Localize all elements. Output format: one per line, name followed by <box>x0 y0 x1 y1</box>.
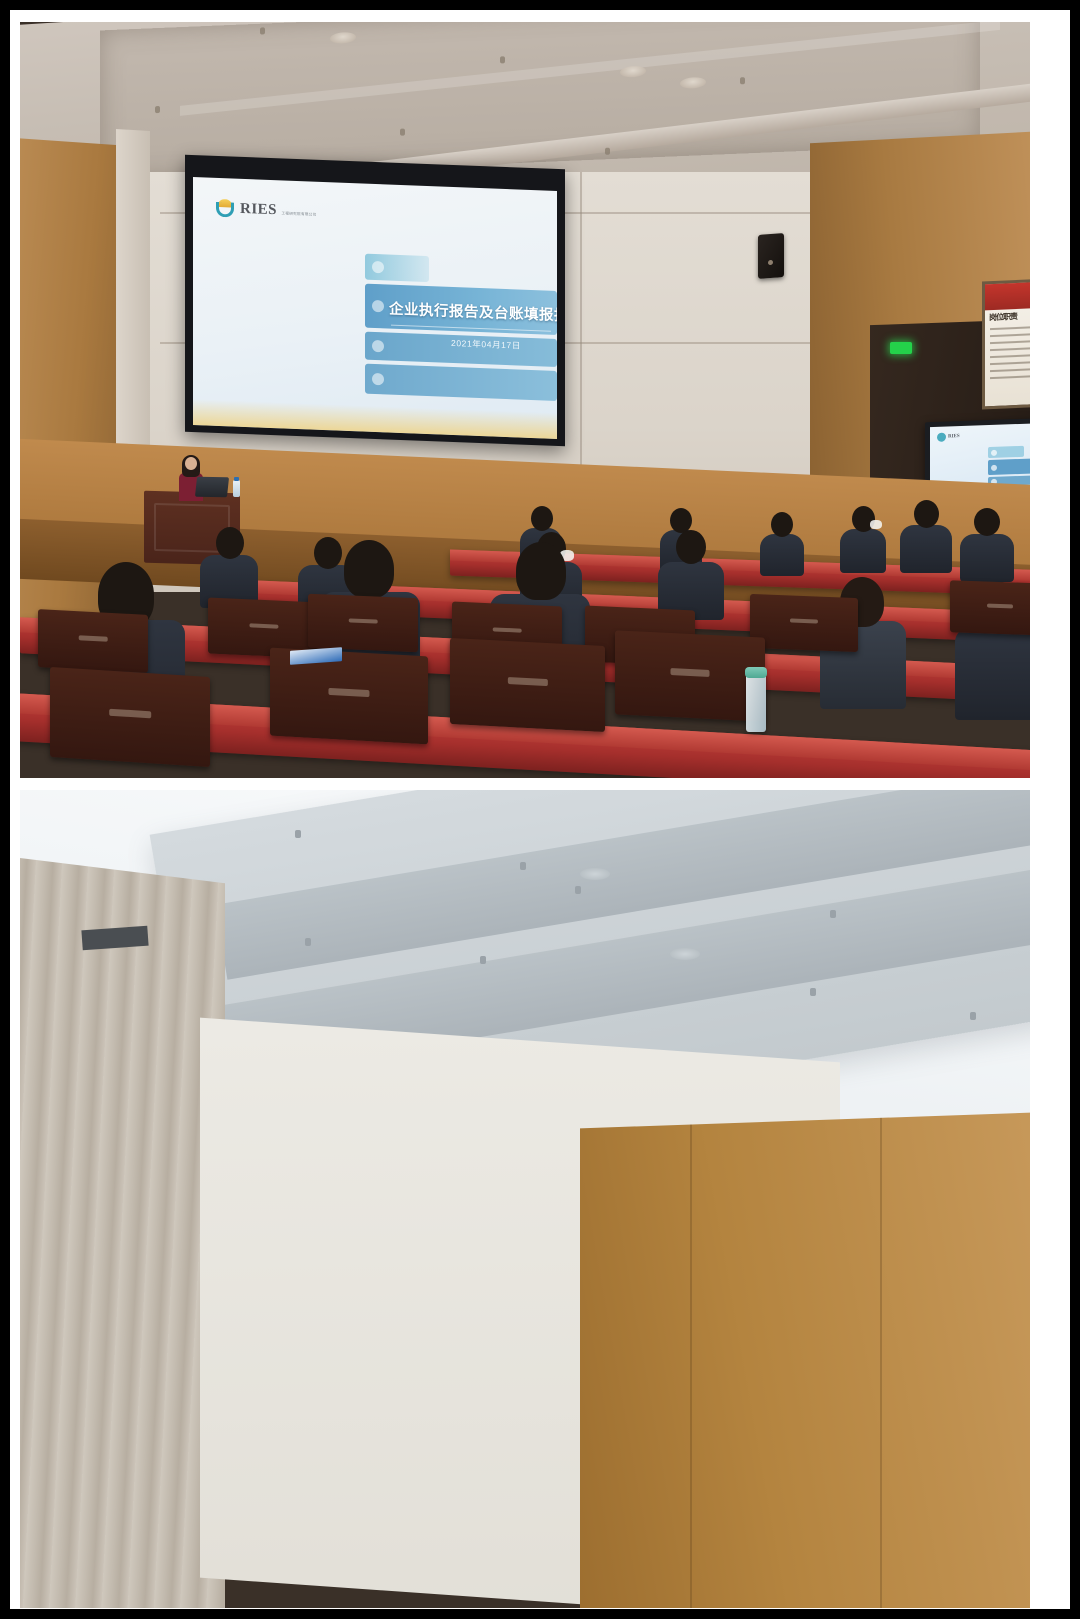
mini-band <box>988 458 1030 475</box>
smoke-detector <box>480 956 486 964</box>
ries-wordmark: RIES <box>948 434 960 439</box>
chair <box>50 667 210 767</box>
chair <box>750 594 858 652</box>
sprinkler-head <box>500 56 505 63</box>
ceiling-downlight <box>670 948 700 960</box>
chair <box>450 638 605 732</box>
face-mask <box>870 520 882 529</box>
projection-screen-surface: RIES 工程研究院有限公司 企业执行报告及台账填报指导 2021年04月17日 <box>193 177 557 439</box>
smoke-detector <box>400 128 405 135</box>
attendee <box>658 530 724 618</box>
slide-logo: RIES 工程研究院有限公司 <box>215 198 317 222</box>
ries-wordmark: RIES <box>240 201 277 218</box>
ries-logo-text: RIES 工程研究院有限公司 <box>240 201 317 220</box>
photo-top-conference-room: 岗位职责 RIES 工程研究院有限公司 <box>20 22 1030 778</box>
thermos <box>746 674 766 732</box>
smoke-detector <box>810 988 816 996</box>
chair <box>615 630 765 721</box>
attendee <box>200 527 258 607</box>
wall-seam <box>580 172 582 472</box>
framed-poster: 岗位职责 <box>982 278 1030 409</box>
wall-speaker-icon <box>758 233 784 279</box>
mini-band <box>988 446 1024 458</box>
slide-band <box>365 364 557 401</box>
wood-wall <box>580 1112 1030 1608</box>
exit-sign-icon <box>890 342 912 354</box>
projection-screen-frame: RIES 工程研究院有限公司 企业执行报告及台账填报指导 2021年04月17日 <box>185 155 565 447</box>
wood-seam <box>880 1118 882 1608</box>
laptop <box>195 477 229 498</box>
photo-bottom-conference-room: 大力发扬三牛精神 全力答好 RIES 工程研究院有限公司 一案三制 <box>20 790 1030 1608</box>
window-curtain <box>20 857 225 1608</box>
sprinkler-head <box>830 910 836 918</box>
attendee <box>900 500 952 572</box>
smoke-detector <box>575 886 581 894</box>
sprinkler-head <box>740 77 745 84</box>
ries-logo-icon <box>215 198 235 219</box>
slide-band <box>365 254 429 282</box>
attendee <box>760 512 804 574</box>
smoke-detector <box>155 106 160 113</box>
ceiling-downlight <box>580 868 610 880</box>
attendee <box>840 506 886 572</box>
poster-header <box>985 282 1030 311</box>
wood-seam <box>690 1124 692 1608</box>
page-background: 岗位职责 RIES 工程研究院有限公司 <box>0 0 1080 1619</box>
ries-subtext: 工程研究院有限公司 <box>281 211 316 216</box>
chair <box>950 580 1030 635</box>
mini-logo: RIES <box>937 432 960 442</box>
water-bottle <box>233 480 240 497</box>
ries-logo-icon <box>937 433 946 442</box>
smoke-detector <box>970 1012 976 1020</box>
chair <box>38 609 148 673</box>
slide-footer-wave <box>193 399 557 439</box>
poster-body-lines <box>990 326 1030 384</box>
chair <box>308 594 418 653</box>
sprinkler-head <box>520 862 526 870</box>
smoke-detector <box>305 938 311 946</box>
sprinkler-head <box>260 27 265 34</box>
poster-title: 岗位职责 <box>989 310 1030 324</box>
smoke-detector <box>605 148 610 155</box>
sprinkler-head <box>295 830 301 838</box>
attendee <box>960 508 1014 582</box>
